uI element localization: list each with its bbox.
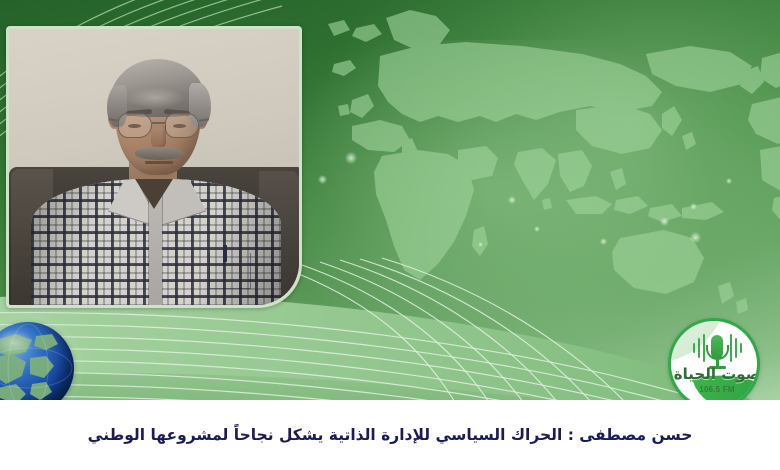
news-card: صوت الحياة 106.5 FM حسن مصطفى : الحراك ا… xyxy=(0,0,780,470)
station-frequency: 106.5 FM xyxy=(671,385,760,394)
photo-image xyxy=(9,29,299,305)
sparkle-dot xyxy=(690,232,701,243)
world-map-icon xyxy=(290,0,780,324)
background-glow-secondary xyxy=(300,40,720,370)
station-name: صوت الحياة xyxy=(671,365,760,383)
sparkle-dot xyxy=(660,217,669,226)
sound-wave-bar xyxy=(740,343,742,353)
sparkle-dot xyxy=(600,238,607,245)
sparkle-dot xyxy=(508,196,516,204)
sparkle-dot xyxy=(318,175,327,184)
sparkle-dot xyxy=(478,242,483,247)
headline-text: حسن مصطفى : الحراك السياسي للإدارة الذات… xyxy=(0,425,780,446)
headline-bar: حسن مصطفى : الحراك السياسي للإدارة الذات… xyxy=(0,400,780,470)
sparkle-dot xyxy=(345,152,357,164)
sparkle-dot xyxy=(534,226,540,232)
sound-wave-bar xyxy=(730,334,732,362)
sparkle-dot xyxy=(690,203,697,210)
subject-photo xyxy=(6,26,302,308)
sparkle-dot xyxy=(726,178,732,184)
station-logo: صوت الحياة 106.5 FM xyxy=(668,318,760,410)
sound-wave-bar xyxy=(735,338,737,358)
globe-icon xyxy=(0,322,74,400)
